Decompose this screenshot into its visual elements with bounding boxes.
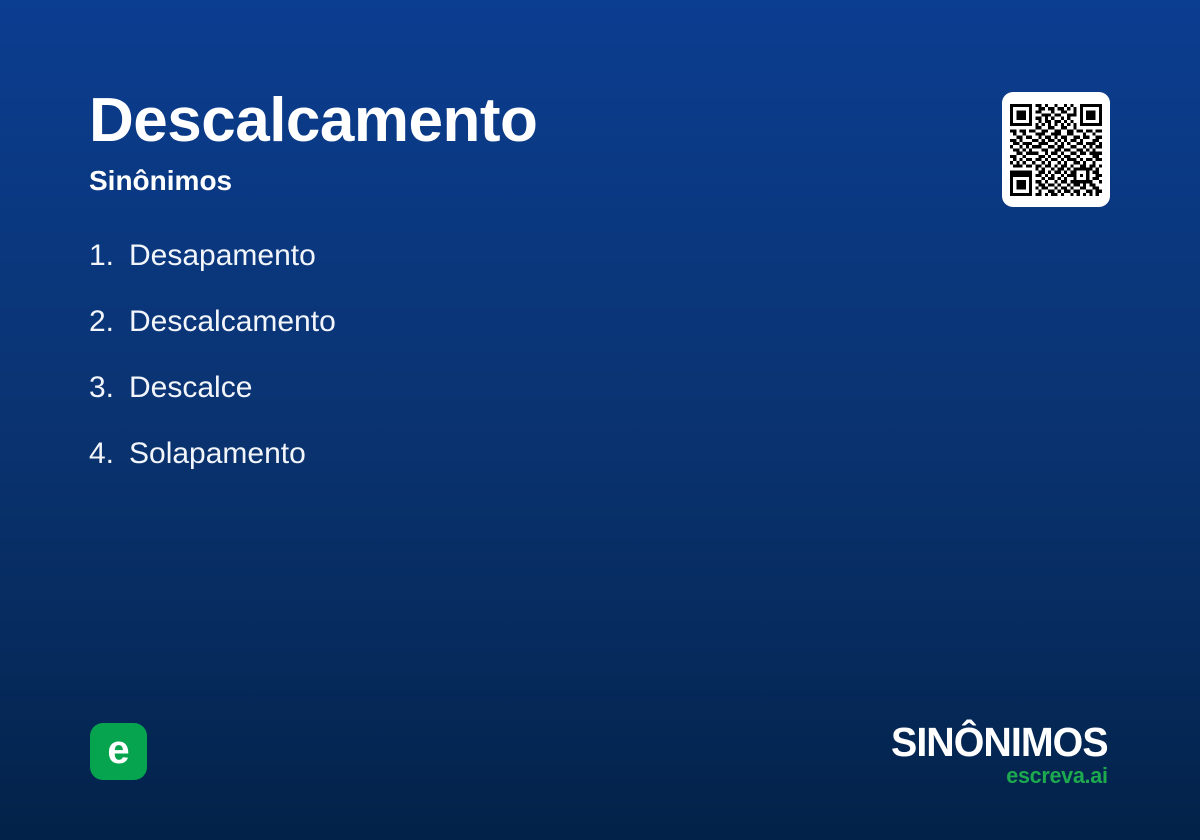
list-item-index: 1.: [89, 238, 129, 274]
list-item-label: Solapamento: [129, 436, 306, 472]
wordmark-main: SINÔNIMOS: [891, 722, 1108, 763]
list-item: 4.Solapamento: [89, 436, 849, 502]
brand-mark-letter: e: [107, 730, 129, 770]
list-item-index: 4.: [89, 436, 129, 472]
synonym-card: Descalcamento Sinônimos 1.Desapamento2.D…: [0, 0, 1200, 840]
list-item-index: 3.: [89, 370, 129, 406]
list-item-label: Descalce: [129, 370, 252, 406]
sinonimos-wordmark[interactable]: SINÔNIMOS escreva.ai: [882, 722, 1108, 788]
qr-code-card[interactable]: [1002, 92, 1110, 207]
page-title: Descalcamento: [89, 90, 537, 152]
list-item-label: Descalcamento: [129, 304, 336, 340]
page-subtitle: Sinônimos: [89, 167, 232, 195]
list-item: 3.Descalce: [89, 370, 849, 436]
synonym-list: 1.Desapamento2.Descalcamento3.Descalce4.…: [89, 238, 849, 502]
list-item-label: Desapamento: [129, 238, 316, 274]
escreva-e-logo-icon[interactable]: e: [90, 723, 147, 780]
qr-code-icon: [1010, 104, 1102, 196]
list-item: 1.Desapamento: [89, 238, 849, 304]
wordmark-sub: escreva.ai: [887, 764, 1108, 788]
list-item: 2.Descalcamento: [89, 304, 849, 370]
list-item-index: 2.: [89, 304, 129, 340]
